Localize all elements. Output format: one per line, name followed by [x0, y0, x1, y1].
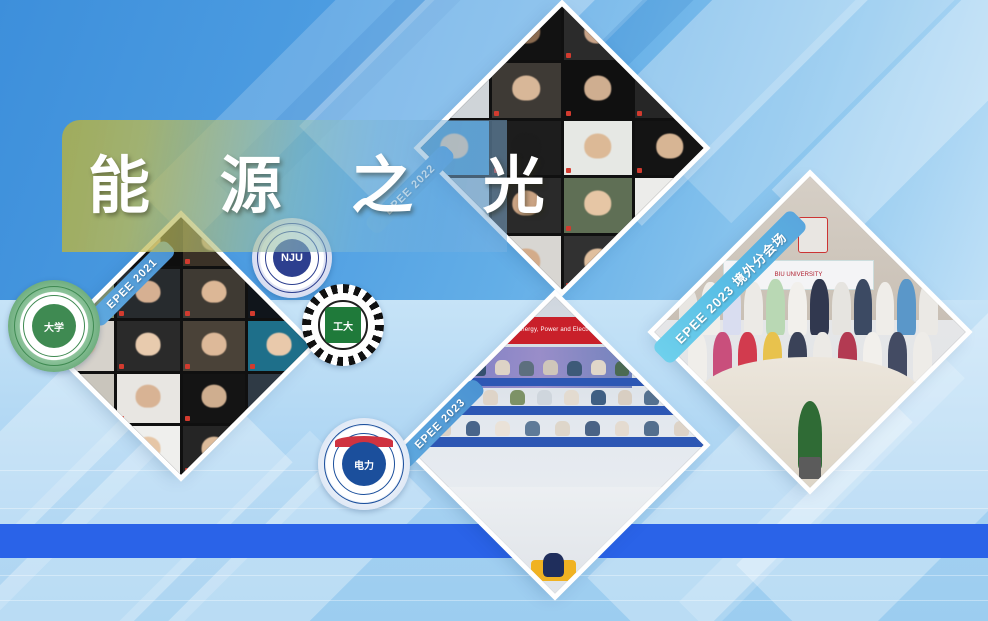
decor-line	[0, 600, 988, 601]
page-title: 能 源 之 光	[88, 155, 569, 217]
decor-line	[0, 575, 988, 576]
plant-pot	[799, 457, 821, 479]
title-banner: 能 源 之 光	[62, 120, 507, 252]
university-seal-ncepu[interactable]: 电力	[318, 418, 410, 510]
poster-root: EPEE 2021	[0, 0, 988, 621]
university-seal-green[interactable]: 大学	[8, 280, 100, 372]
university-seal-gear[interactable]: 工大	[302, 284, 384, 366]
seal-core: 工大	[325, 307, 361, 343]
seal-core: 大学	[32, 304, 76, 348]
seal-core: 电力	[342, 442, 386, 486]
